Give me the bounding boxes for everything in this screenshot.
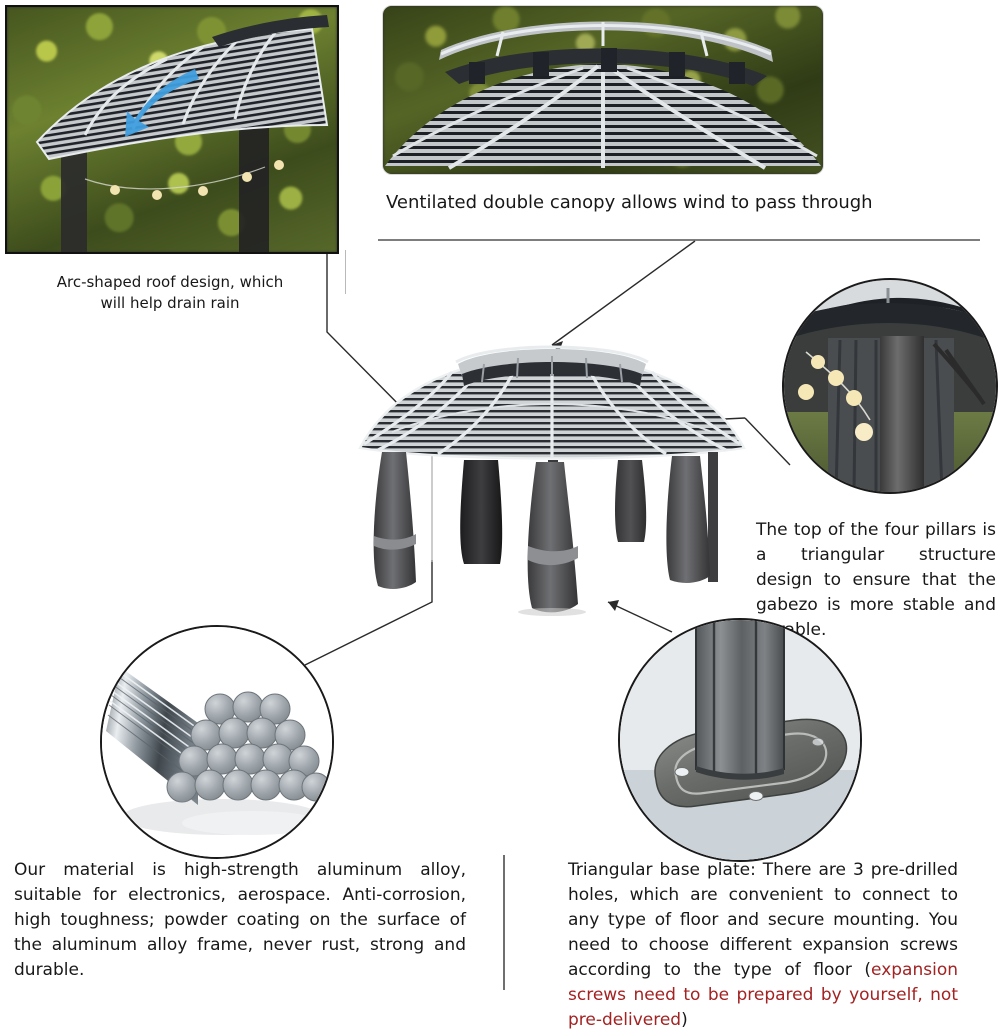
aluminum-rods-photo <box>100 625 334 859</box>
ventilated-canopy-caption: Ventilated double canopy allows wind to … <box>386 190 946 216</box>
base-plate-caption: Triangular base plate: There are 3 pre-d… <box>568 858 958 1033</box>
arc-roof-caption-line2: will help drain rain <box>20 293 320 314</box>
divider-vertical-top <box>345 250 346 294</box>
diagram-canvas: Arc-shaped roof design, which will help … <box>0 0 1000 1000</box>
pillar-top-photo <box>782 278 998 494</box>
arc-roof-caption-line1: Arc-shaped roof design, which <box>20 272 320 293</box>
divider-vertical-bottom <box>503 855 505 990</box>
ventilated-double-canopy-photo <box>382 5 824 175</box>
arc-shaped-roof-photo <box>5 5 339 254</box>
base-plate-photo <box>618 618 862 862</box>
arc-roof-caption: Arc-shaped roof design, which will help … <box>20 272 320 314</box>
gazebo-illustration <box>352 320 752 620</box>
aluminum-material-caption: Our material is high-strength aluminum a… <box>14 858 466 983</box>
base-plate-caption-part2: ) <box>681 1010 688 1030</box>
